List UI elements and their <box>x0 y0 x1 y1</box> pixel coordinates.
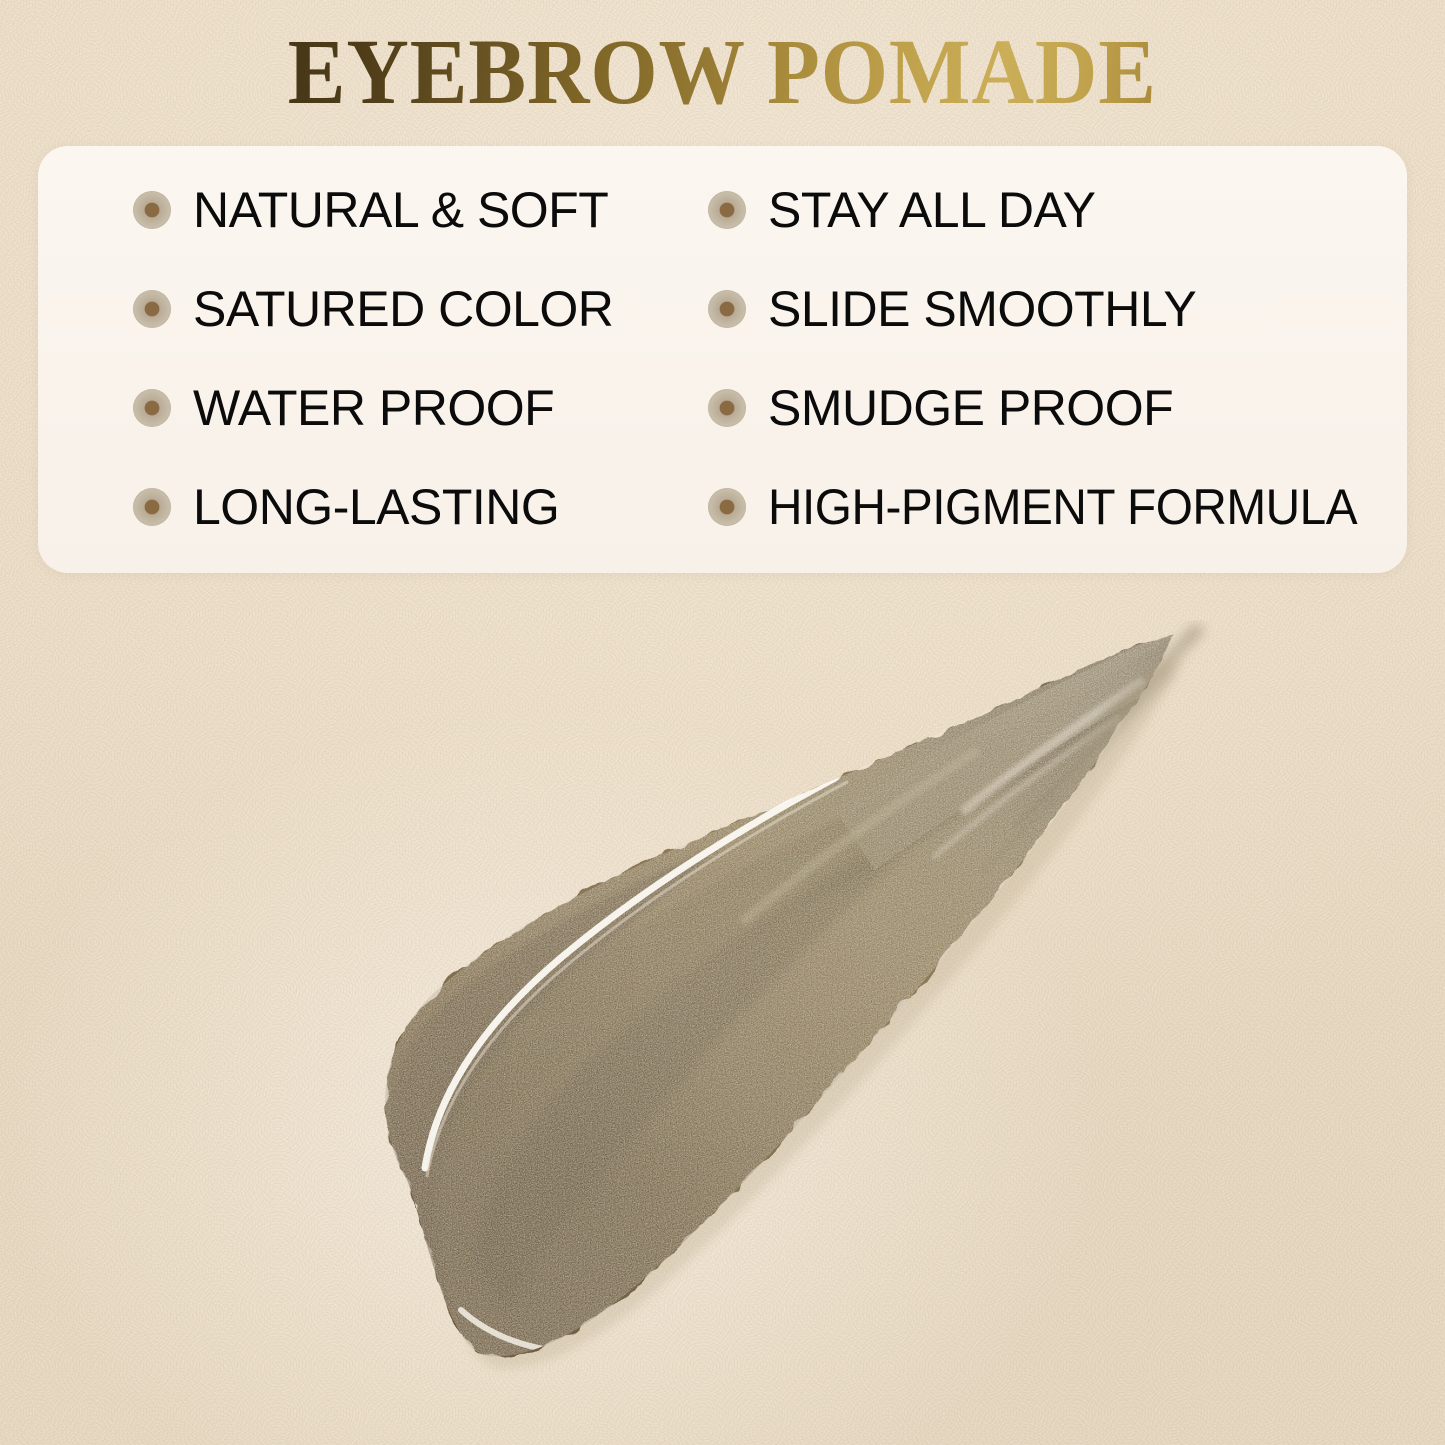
swatch-area <box>0 600 1445 1445</box>
feature-label: NATURAL & SOFT <box>193 185 608 235</box>
bullet-dot-icon <box>133 488 171 526</box>
feature-label: SLIDE SMOOTHLY <box>768 284 1196 334</box>
bullet-dot-icon <box>708 389 746 427</box>
feature-item-high-pigment-formula: HIGH-PIGMENT FORMULA <box>698 458 1407 557</box>
feature-label: HIGH-PIGMENT FORMULA <box>768 482 1357 532</box>
bullet-dot-icon <box>133 290 171 328</box>
bullet-dot-icon <box>708 488 746 526</box>
feature-label: STAY ALL DAY <box>768 185 1096 235</box>
feature-card: NATURAL & SOFT STAY ALL DAY SATURED COLO… <box>38 146 1407 573</box>
feature-label: SMUDGE PROOF <box>768 383 1173 433</box>
product-feature-graphic: EYEBROW POMADE NATURAL & SOFT STAY ALL D… <box>0 0 1445 1445</box>
bullet-dot-icon <box>708 191 746 229</box>
feature-item-stay-all-day: STAY ALL DAY <box>698 160 1407 259</box>
feature-list: NATURAL & SOFT STAY ALL DAY SATURED COLO… <box>38 146 1407 573</box>
feature-item-smudge-proof: SMUDGE PROOF <box>698 359 1407 458</box>
bullet-dot-icon <box>133 191 171 229</box>
title-container: EYEBROW POMADE <box>0 20 1445 125</box>
feature-label: LONG-LASTING <box>193 482 559 532</box>
feature-label: WATER PROOF <box>193 383 554 433</box>
feature-item-satured-color: SATURED COLOR <box>38 259 698 358</box>
feature-item-long-lasting: LONG-LASTING <box>38 458 698 557</box>
bullet-dot-icon <box>708 290 746 328</box>
feature-item-slide-smoothly: SLIDE SMOOTHLY <box>698 259 1407 358</box>
feature-item-natural-soft: NATURAL & SOFT <box>38 160 698 259</box>
feature-label: SATURED COLOR <box>193 284 613 334</box>
bullet-dot-icon <box>133 389 171 427</box>
page-title: EYEBROW POMADE <box>288 26 1157 119</box>
feature-item-water-proof: WATER PROOF <box>38 359 698 458</box>
pomade-smear-swatch <box>275 620 1215 1420</box>
